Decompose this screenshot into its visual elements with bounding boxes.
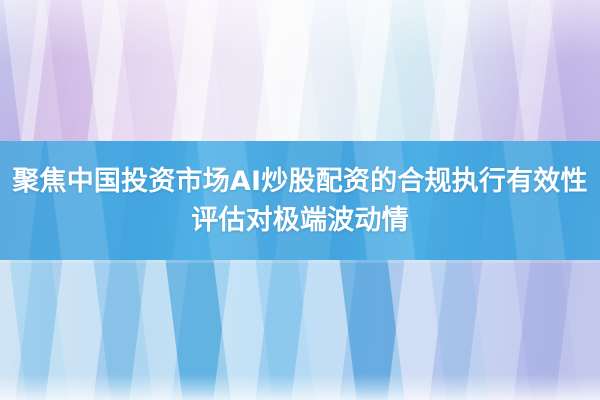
- background-bottom-zone: [0, 260, 600, 400]
- bottom-edge-glow: [0, 374, 600, 400]
- header-banner-image: 聚焦中国投资市场AI炒股配资的合规执行有效性 评估对极端波动情: [0, 0, 600, 400]
- headline-line-1: 聚焦中国投资市场AI炒股配资的合规执行有效性: [12, 165, 587, 198]
- headline-text-block: 聚焦中国投资市场AI炒股配资的合规执行有效性 评估对极端波动情: [0, 141, 600, 260]
- bottom-zone-top-highlight: [0, 260, 600, 263]
- top-white-wash: [0, 0, 600, 141]
- headline-line-2: 评估对极端波动情: [191, 204, 409, 237]
- background-top-zone: [0, 0, 600, 141]
